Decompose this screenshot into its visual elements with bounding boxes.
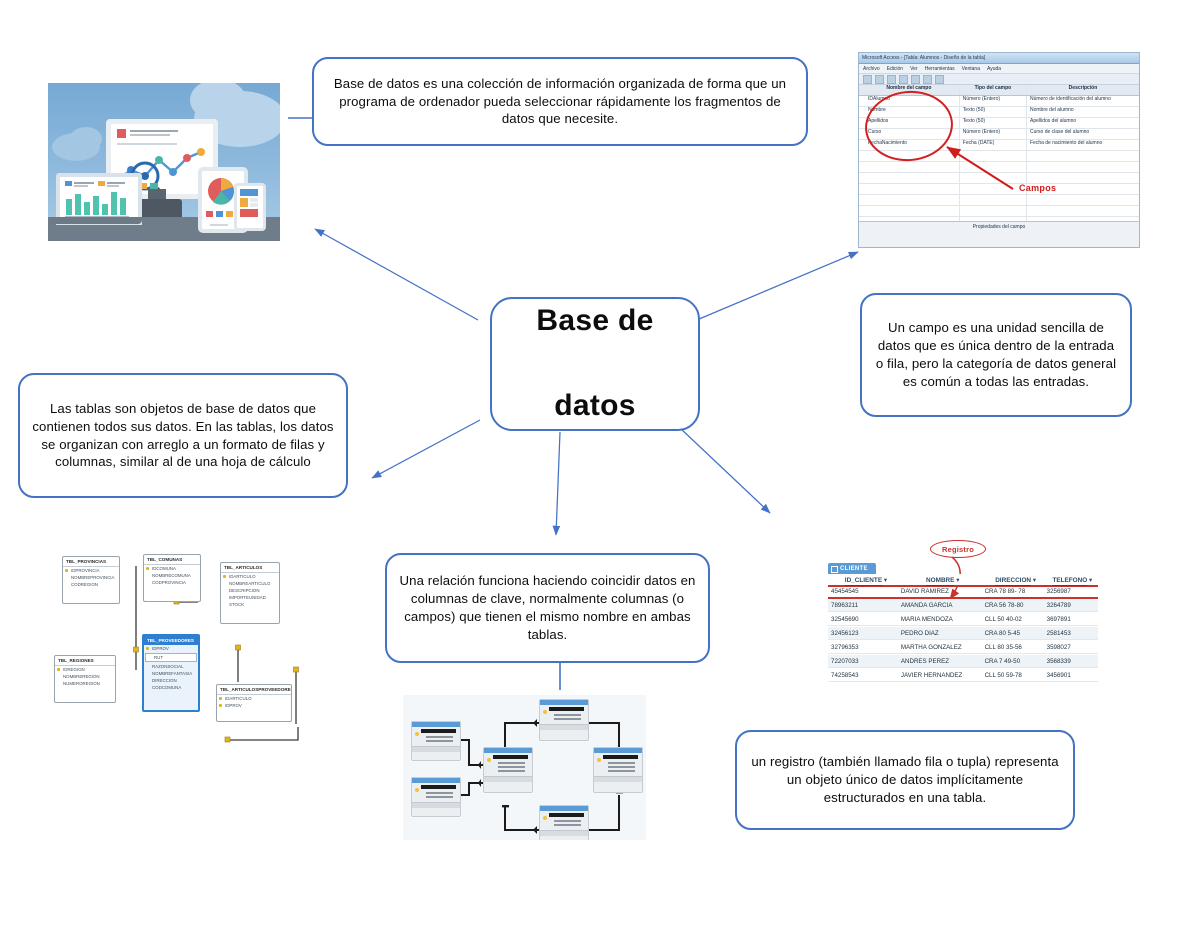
table-row[interactable]: 74258543 JAVIER HERNANDEZ CLL 50 59-78 3… <box>828 669 1098 682</box>
cell-direccion: CRA 78 89- 78 <box>985 588 1047 595</box>
cell-nombre: PEDRO DIAZ <box>901 630 985 637</box>
er-field: IDARTICULO <box>221 573 279 580</box>
er-table-title: TBL_REGIONES <box>55 656 115 666</box>
er-field: RAZONSOCIAL <box>144 663 198 670</box>
er-field: NOMBRECOMUNA <box>144 572 200 579</box>
table-row[interactable]: 78963211 AMANDA GARCIA CRA 56 78-80 3264… <box>828 599 1098 612</box>
cell-nombre: MARTHA GONZALEZ <box>901 644 985 651</box>
key-icon <box>415 732 419 736</box>
cliente-datasheet-image: Registro CLIENTE ID_CLIENTE ▾ NOMBRE ▾ D… <box>822 537 1104 692</box>
cell-id-cliente: 32796353 <box>828 644 901 651</box>
column-header-direccion[interactable]: DIRECCION ▾ <box>985 576 1047 584</box>
cell-tipo: Número (Entero) <box>960 96 1027 106</box>
callout-campo-text: Un campo es una unidad sencilla de datos… <box>874 319 1118 390</box>
phone-shape <box>234 183 266 231</box>
key-icon <box>597 758 601 762</box>
column-header-nombre[interactable]: NOMBRE ▾ <box>901 576 985 584</box>
callout-definicion: Base de datos es una colección de inform… <box>312 57 808 146</box>
save-icon[interactable] <box>863 75 872 84</box>
er-field: CODREGION <box>63 581 119 588</box>
cell-direccion: CLL 50 59-78 <box>985 672 1047 679</box>
callout-registro: un registro (también llamado fila o tupl… <box>735 730 1075 830</box>
menu-item-edicion[interactable]: Edición <box>887 66 903 71</box>
callout-tablas: Las tablas son objetos de base de datos … <box>18 373 348 498</box>
cell-nombre: ANDRES PEREZ <box>901 658 985 665</box>
er-field: IDCOMUNA <box>144 565 200 572</box>
menu-item-archivo[interactable]: Archivo <box>863 66 880 71</box>
access-field-properties-pane: Propiedades del campo <box>859 221 1139 247</box>
flow-table-box[interactable] <box>539 699 589 741</box>
access-titlebar: Microsoft Access - [Tabla: Alumnos - Dis… <box>859 53 1139 64</box>
callout-relacion: Una relación funciona haciendo coincidir… <box>385 553 710 663</box>
copy-icon[interactable] <box>899 75 908 84</box>
cell-telefono: 3697891 <box>1047 616 1098 623</box>
callout-relacion-text: Una relación funciona haciendo coincidir… <box>399 572 696 643</box>
access-toolbar[interactable] <box>859 74 1139 85</box>
cell-telefono: 2581453 <box>1047 630 1098 637</box>
table-row[interactable]: 45454545 DAVID RAMIREZ CRA 78 89- 78 325… <box>828 585 1098 599</box>
er-table-title: TBL_PROVINCIAS <box>63 557 119 567</box>
er-field-highlight: RUT <box>145 653 197 662</box>
cell-id-cliente: 72207033 <box>828 658 901 665</box>
column-header-tipo-campo: Tipo del campo <box>960 85 1027 95</box>
cell-direccion: CRA 56 78-80 <box>985 602 1047 609</box>
flow-table-box[interactable] <box>483 747 533 793</box>
flow-table-box[interactable] <box>411 777 461 817</box>
table-row[interactable]: 32456123 PEDRO DIAZ CRA 80 5-45 2581453 <box>828 627 1098 640</box>
callout-campo: Un campo es una unidad sencilla de datos… <box>860 293 1132 417</box>
arrow-to-tablas <box>372 420 480 478</box>
cell-id-cliente: 78963211 <box>828 602 901 609</box>
cell-direccion: CRA 80 5-45 <box>985 630 1047 637</box>
access-designview-image: Microsoft Access - [Tabla: Alumnos - Dis… <box>858 52 1140 248</box>
relational-flow-image <box>403 695 646 840</box>
monitor-stand <box>148 189 166 199</box>
laptop-base <box>50 217 142 224</box>
cut-icon[interactable] <box>887 75 896 84</box>
cell-descripcion: Número de identificación del alumno <box>1027 96 1139 106</box>
callout-tablas-text: Las tablas son objetos de base de datos … <box>32 400 334 471</box>
cliente-table-tab[interactable]: CLIENTE <box>828 563 876 574</box>
er-field: NOMBREFANTASIA <box>144 670 198 677</box>
table-row-empty[interactable] <box>859 206 1139 217</box>
er-field: NOMBREREGION <box>55 673 115 680</box>
arrow-to-registro <box>680 428 770 513</box>
cell-telefono: 3264789 <box>1047 602 1098 609</box>
cell-tipo: Número (Entero) <box>960 129 1027 139</box>
er-field: IDREGION <box>55 666 115 673</box>
er-table-title: TBL_COMUNAS <box>144 555 200 565</box>
cliente-tab-label: CLIENTE <box>840 566 868 572</box>
er-table-comunas[interactable]: TBL_COMUNAS IDCOMUNA NOMBRECOMUNA CODPRO… <box>143 554 201 602</box>
arrow-to-analytics <box>315 229 478 320</box>
er-field: NUMEROREGION <box>55 680 115 687</box>
menu-item-herramientas[interactable]: Herramientas <box>925 66 955 71</box>
menu-item-ver[interactable]: Ver <box>910 66 918 71</box>
key-icon <box>487 758 491 762</box>
flow-table-box[interactable] <box>539 805 589 840</box>
mindmap-canvas: Base de datos es una colección de inform… <box>0 0 1200 927</box>
er-table-title: TBL_ARTICULOS <box>221 563 279 573</box>
er-field: IDARTICULO <box>217 695 291 702</box>
primary-key-icon[interactable] <box>935 75 944 84</box>
cell-descripcion: Fecha de nacimiento del alumno <box>1027 140 1139 150</box>
cell-tipo: Texto (50) <box>960 118 1027 128</box>
menu-item-ventana[interactable]: Ventana <box>962 66 980 71</box>
table-row[interactable]: 72207033 ANDRES PEREZ CRA 7 49-50 356833… <box>828 655 1098 668</box>
table-row[interactable]: 32796353 MARTHA GONZALEZ CLL 80 35-56 35… <box>828 641 1098 654</box>
print-icon[interactable] <box>875 75 884 84</box>
er-field: STOCK <box>221 601 279 608</box>
flow-table-box[interactable] <box>411 721 461 761</box>
center-node-line1: Base de <box>536 300 653 343</box>
arrow-to-access <box>692 252 858 322</box>
cell-descripcion: Nombre del alumno <box>1027 107 1139 117</box>
er-table-provincias[interactable]: TBL_PROVINCIAS IDPROVINCIA NOMBREPROVINC… <box>62 556 120 604</box>
arrow-to-relacion <box>556 432 560 535</box>
cell-nombre: MARIA MENDOZA <box>901 616 985 623</box>
column-header-id-cliente[interactable]: ID_CLIENTE ▾ <box>828 576 901 584</box>
access-menubar: Archivo Edición Ver Herramientas Ventana… <box>859 64 1139 74</box>
cell-descripcion: Apellidos del alumno <box>1027 118 1139 128</box>
er-table-regiones[interactable]: TBL_REGIONES IDREGION NOMBREREGION NUMER… <box>54 655 116 703</box>
callout-definicion-text: Base de datos es una colección de inform… <box>326 75 794 128</box>
column-header-telefono[interactable]: TELEFONO ▾ <box>1047 576 1098 584</box>
campos-arrow <box>927 139 1027 199</box>
er-field: NOMBREPROVINCIA <box>63 574 119 581</box>
cell-direccion: CLL 80 35-56 <box>985 644 1047 651</box>
er-field: IDPROV <box>144 645 198 652</box>
cell-nombre: DAVID RAMIREZ <box>901 588 985 595</box>
cell-id-cliente: 74258543 <box>828 672 901 679</box>
cell-id-cliente: 45454545 <box>828 588 901 595</box>
er-field: IDPROV <box>217 702 291 709</box>
er-field: IDPROVINCIA <box>63 567 119 574</box>
er-diagram-image: TBL_PROVINCIAS IDPROVINCIA NOMBREPROVINC… <box>48 542 332 748</box>
paste-icon[interactable] <box>911 75 920 84</box>
center-node-label: Base de datos <box>536 300 653 428</box>
cell-telefono: 3598027 <box>1047 644 1098 651</box>
key-icon <box>543 710 547 714</box>
cell-direccion: CLL 50 40-02 <box>985 616 1047 623</box>
table-row[interactable]: 32545690 MARIA MENDOZA CLL 50 40-02 3697… <box>828 613 1098 626</box>
er-field: DESCRIPCION <box>221 587 279 594</box>
menu-item-ayuda[interactable]: Ayuda <box>987 66 1001 71</box>
access-title-text: Microsoft Access - [Tabla: Alumnos - Dis… <box>862 55 985 61</box>
cell-telefono: 3456901 <box>1047 672 1098 679</box>
er-table-title: TBL_PROVEEDORES <box>144 636 198 645</box>
center-node-line2: datos <box>536 385 653 428</box>
er-field: CODPROVINCIA <box>144 579 200 586</box>
er-field: DIRECCION <box>144 677 198 684</box>
er-table-articulosproveedores[interactable]: TBL_ARTICULOSPROVEEDORES IDARTICULO IDPR… <box>216 684 292 722</box>
cell-descripcion: Curso de clase del alumno <box>1027 129 1139 139</box>
center-node-base-de-datos[interactable]: Base de datos <box>490 297 700 431</box>
er-table-proveedores[interactable]: TBL_PROVEEDORES IDPROV RUT RAZONSOCIAL N… <box>142 634 200 712</box>
er-field: CODCOMUNA <box>144 684 198 691</box>
cell-direccion: CRA 7 49-50 <box>985 658 1047 665</box>
flow-table-box[interactable] <box>593 747 643 793</box>
cloud-shape <box>70 127 102 151</box>
column-header-descripcion: Descripción <box>1027 85 1139 95</box>
cell-id-cliente: 32456123 <box>828 630 901 637</box>
er-field: RUT <box>146 654 196 661</box>
undo-icon[interactable] <box>923 75 932 84</box>
callout-registro-text: un registro (también llamado fila o tupl… <box>749 753 1061 806</box>
er-field: IMPORTEUNIDAD <box>221 594 279 601</box>
er-table-articulos[interactable]: TBL_ARTICULOS IDARTICULO NOMBREARTICULO … <box>220 562 280 624</box>
cell-nombre: AMANDA GARCIA <box>901 602 985 609</box>
er-table-title: TBL_ARTICULOSPROVEEDORES <box>217 685 291 695</box>
key-icon <box>415 788 419 792</box>
cell-id-cliente: 32545690 <box>828 616 901 623</box>
cell-nombre: JAVIER HERNANDEZ <box>901 672 985 679</box>
cell-tipo: Texto (50) <box>960 107 1027 117</box>
analytics-illustration-image <box>48 83 280 241</box>
cell-telefono: 3568339 <box>1047 658 1098 665</box>
campos-annotation-label: Campos <box>1019 183 1056 193</box>
field-properties-label: Propiedades del campo <box>973 224 1026 230</box>
cell-telefono: 3256987 <box>1047 588 1098 595</box>
key-icon <box>543 816 547 820</box>
er-field: NOMBREARTICULO <box>221 580 279 587</box>
